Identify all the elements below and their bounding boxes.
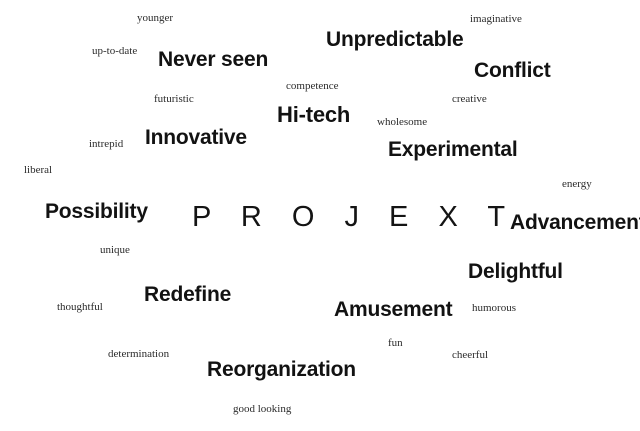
cloud-word-delightful[interactable]: Delightful (468, 261, 563, 282)
cloud-word-good-looking[interactable]: good looking (233, 404, 291, 415)
cloud-word-advancement[interactable]: Advancement (510, 212, 640, 233)
cloud-word-redefine[interactable]: Redefine (144, 284, 231, 305)
cloud-word-cheerful[interactable]: cheerful (452, 350, 488, 361)
cloud-word-energy[interactable]: energy (562, 179, 592, 190)
cloud-word-innovative[interactable]: Innovative (145, 127, 247, 148)
cloud-word-determination[interactable]: determination (108, 349, 169, 360)
cloud-word-conflict[interactable]: Conflict (474, 60, 551, 81)
cloud-word-thoughtful[interactable]: thoughtful (57, 302, 103, 313)
cloud-word-imaginative[interactable]: imaginative (470, 14, 522, 25)
cloud-word-amusement[interactable]: Amusement (334, 299, 452, 320)
cloud-word-futuristic[interactable]: futuristic (154, 94, 194, 105)
cloud-word-liberal[interactable]: liberal (24, 165, 52, 176)
word-cloud-canvas: P R O J E X TyoungerimaginativeUnpredict… (0, 0, 640, 431)
cloud-word-possibility[interactable]: Possibility (45, 201, 148, 222)
cloud-word-unpredictable[interactable]: Unpredictable (326, 29, 463, 50)
cloud-word-up-to-date[interactable]: up-to-date (92, 46, 137, 57)
cloud-word-never-seen[interactable]: Never seen (158, 49, 268, 70)
cloud-word-unique[interactable]: unique (100, 245, 130, 256)
brand-wordmark[interactable]: P R O J E X T (192, 203, 516, 232)
cloud-word-wholesome[interactable]: wholesome (377, 117, 427, 128)
cloud-word-humorous[interactable]: humorous (472, 303, 516, 314)
cloud-word-competence[interactable]: competence (286, 81, 339, 92)
cloud-word-experimental[interactable]: Experimental (388, 139, 518, 160)
cloud-word-reorganization[interactable]: Reorganization (207, 359, 356, 380)
cloud-word-intrepid[interactable]: intrepid (89, 139, 123, 150)
cloud-word-fun[interactable]: fun (388, 338, 403, 349)
cloud-word-creative[interactable]: creative (452, 94, 487, 105)
cloud-word-younger[interactable]: younger (137, 13, 173, 24)
cloud-word-hi-tech[interactable]: Hi-tech (277, 104, 350, 126)
